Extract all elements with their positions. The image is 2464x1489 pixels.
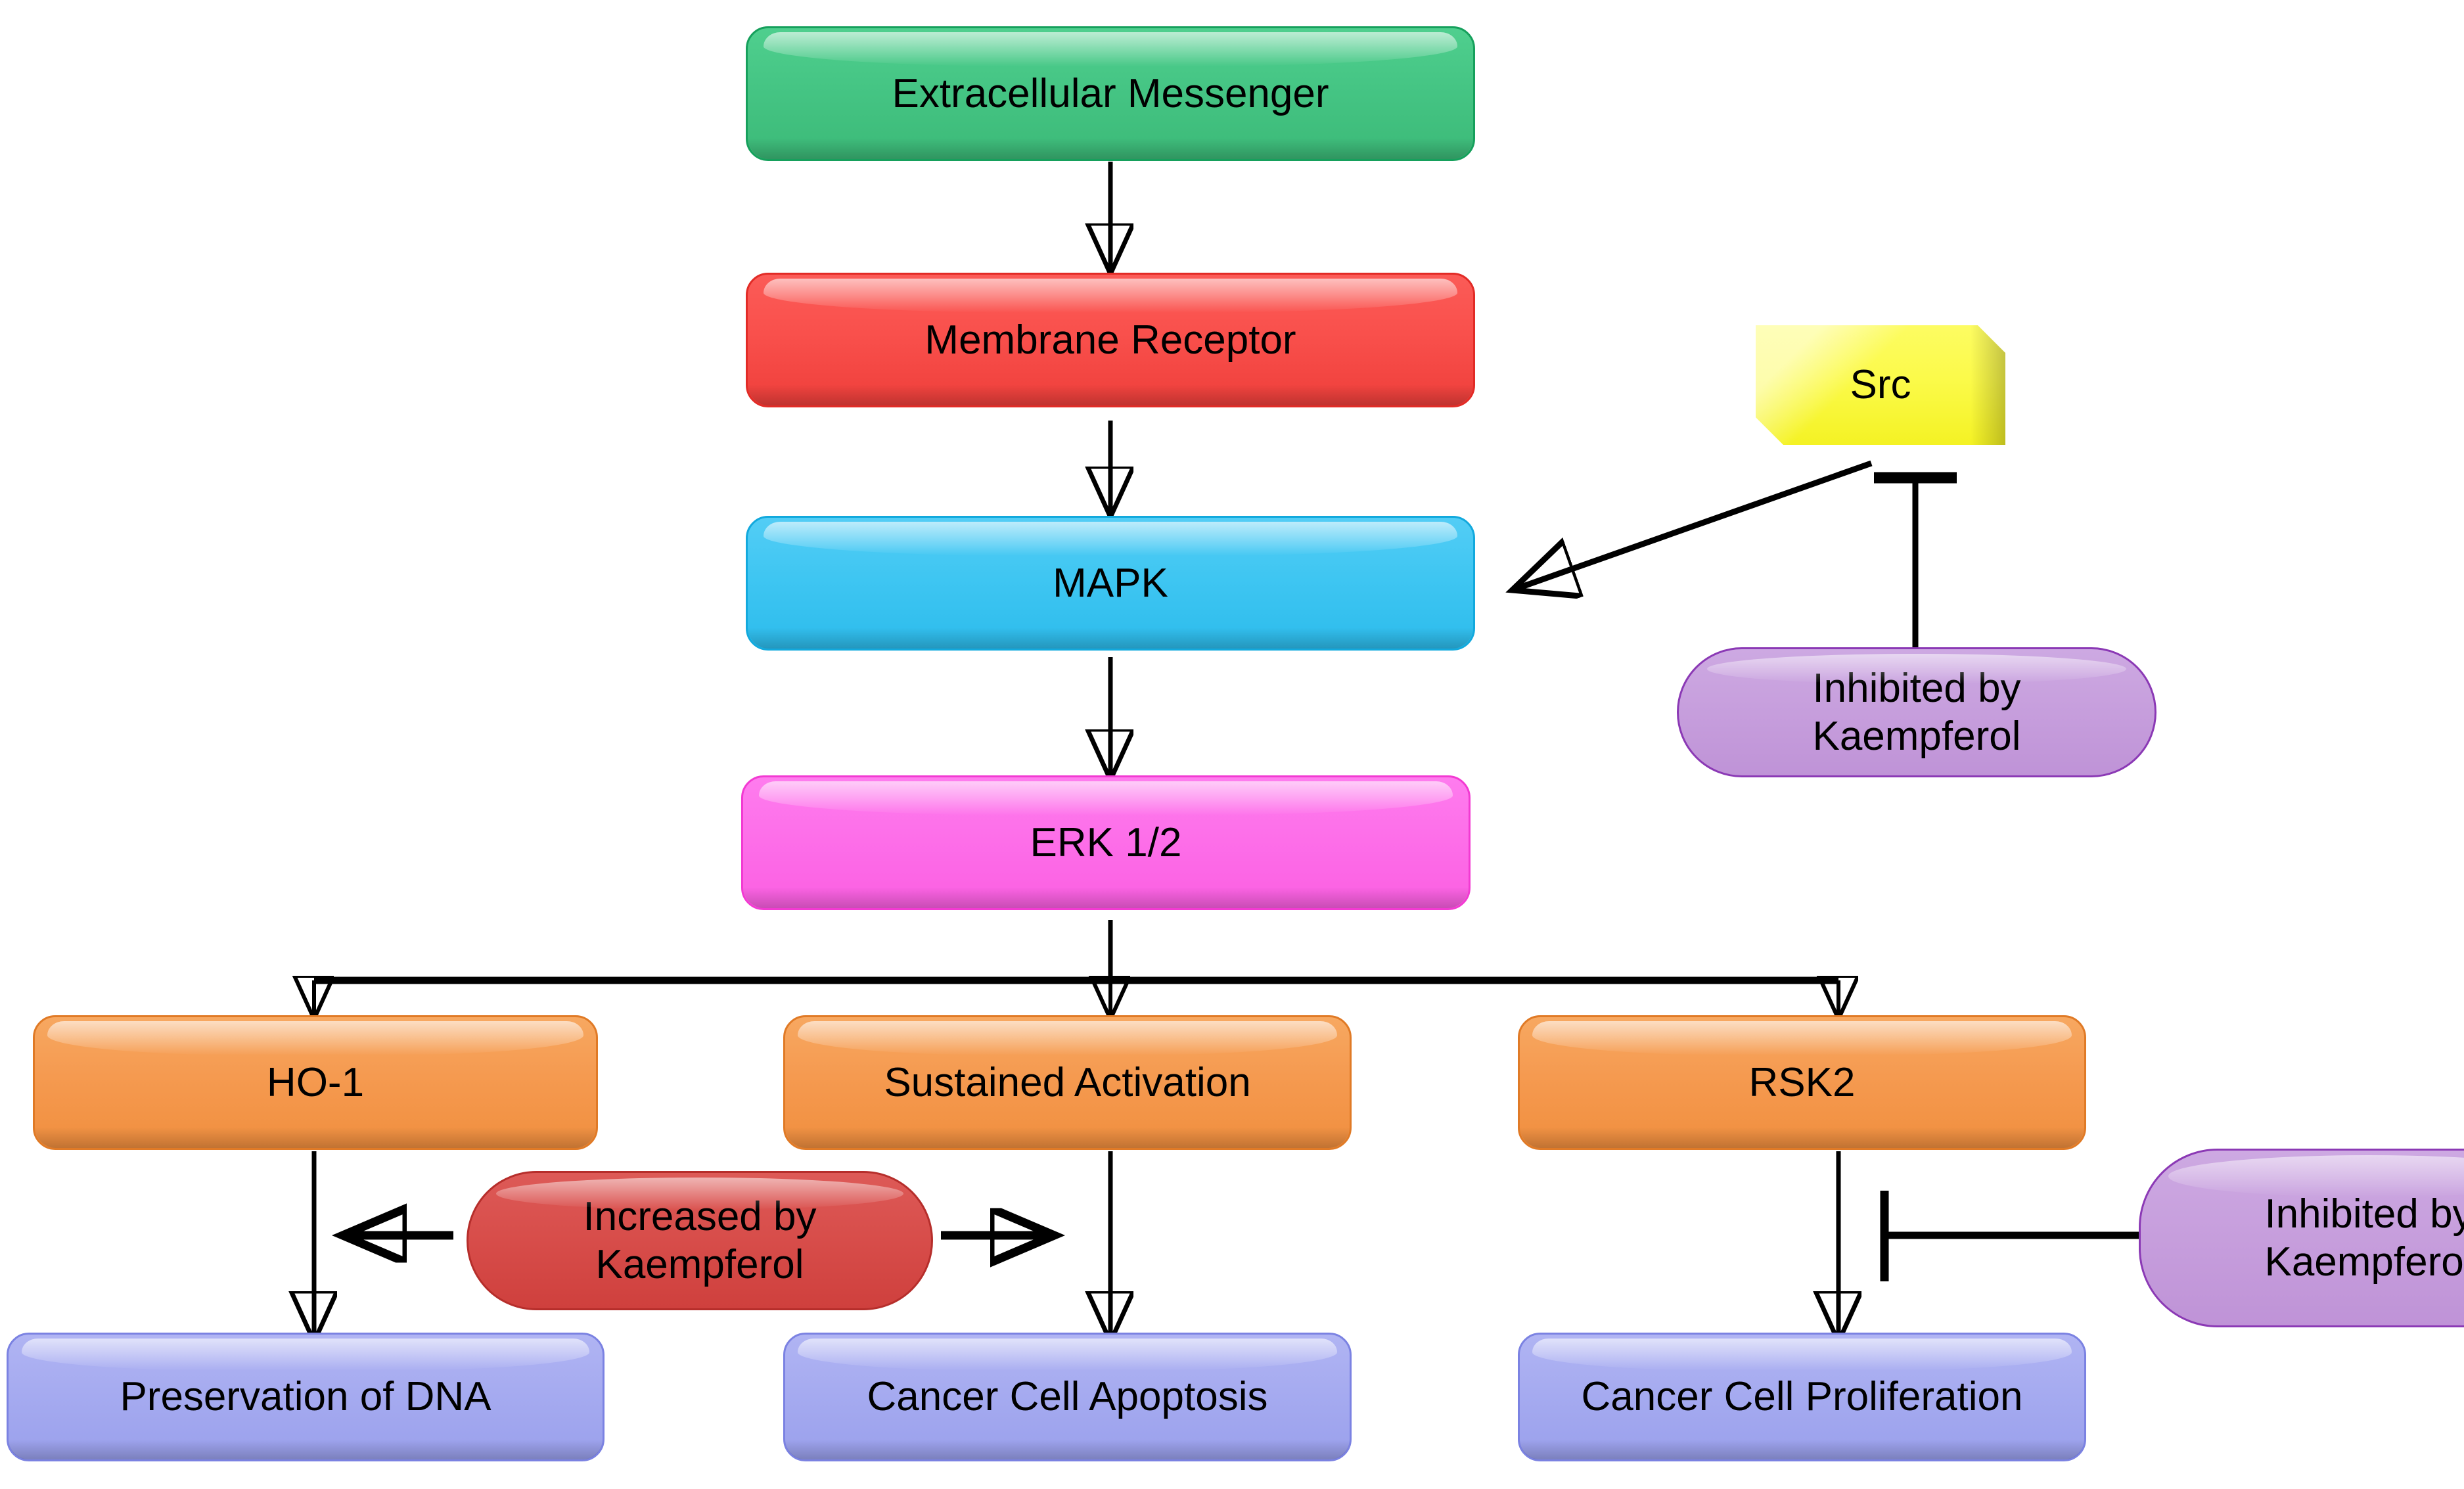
node-erk[interactable]: ERK 1/2	[741, 775, 1471, 910]
node-label: Sustained Activation	[872, 1059, 1262, 1107]
node-ho1[interactable]: HO-1	[33, 1015, 598, 1150]
edge-src-to-mapk	[1518, 463, 1871, 588]
node-extracellular-messenger[interactable]: Extracellular Messenger	[746, 26, 1475, 161]
node-label: Preservation of DNA	[108, 1373, 503, 1421]
node-label: RSK2	[1737, 1059, 1867, 1107]
node-label: Inhibited by Kaempferol	[1800, 664, 2032, 760]
node-cancer-cell-apoptosis[interactable]: Cancer Cell Apoptosis	[783, 1333, 1352, 1461]
node-increased-by-kaempferol[interactable]: Increased by Kaempferol	[467, 1171, 933, 1310]
node-membrane-receptor[interactable]: Membrane Receptor	[746, 273, 1475, 407]
node-label: ERK 1/2	[1018, 819, 1194, 867]
node-rsk2[interactable]: RSK2	[1518, 1015, 2086, 1150]
node-label: MAPK	[1041, 559, 1180, 607]
node-cancer-cell-proliferation[interactable]: Cancer Cell Proliferation	[1518, 1333, 2086, 1461]
node-label: HO-1	[255, 1059, 376, 1107]
node-label: Extracellular Messenger	[880, 70, 1340, 118]
node-label: Src	[1838, 361, 1923, 409]
node-inhibited-by-kaempferol-rsk2[interactable]: Inhibited by Kaempferol	[2139, 1149, 2464, 1327]
node-label: Increased by Kaempferol	[572, 1193, 829, 1289]
node-label: Cancer Cell Apoptosis	[856, 1373, 1280, 1421]
node-preservation-of-dna[interactable]: Preservation of DNA	[7, 1333, 605, 1461]
node-mapk[interactable]: MAPK	[746, 516, 1475, 651]
node-inhibited-by-kaempferol-src[interactable]: Inhibited by Kaempferol	[1677, 647, 2156, 777]
node-label: Inhibited by Kaempferol	[2252, 1190, 2464, 1286]
node-label: Cancer Cell Proliferation	[1570, 1373, 2035, 1421]
node-src[interactable]: Src	[1756, 325, 2005, 445]
pathway-diagram-canvas: Extracellular Messenger Membrane Recepto…	[0, 0, 2464, 1489]
node-label: Membrane Receptor	[913, 316, 1308, 364]
node-sustained-activation[interactable]: Sustained Activation	[783, 1015, 1352, 1150]
